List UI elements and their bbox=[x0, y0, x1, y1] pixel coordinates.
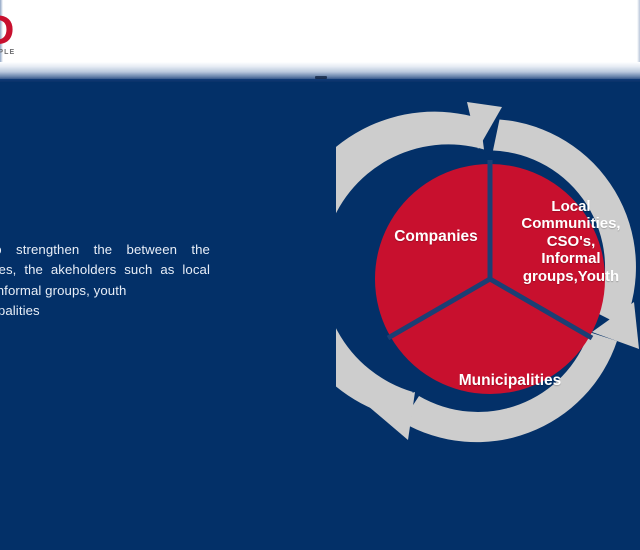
logo-tagline: EOPLE bbox=[0, 49, 15, 56]
stakeholder-line-1: Local bbox=[488, 198, 640, 215]
header-rule bbox=[0, 79, 640, 82]
segment-label-municipalities: Municipalities bbox=[410, 372, 610, 390]
slide-canvas: D EOPLE aims to strengthen the between t… bbox=[0, 0, 640, 550]
body-line-1: aims to strengthen the bbox=[0, 242, 112, 257]
stakeholder-line-3: CSO's, bbox=[488, 233, 640, 250]
body-line-3: akeholders such as local bbox=[51, 262, 210, 277]
body-line-5: e municipalities bbox=[0, 301, 210, 321]
stakeholder-line-2: Communities, bbox=[488, 215, 640, 232]
stakeholder-cycle-diagram: Companies Local Communities, CSO's, Info… bbox=[340, 104, 640, 460]
header-center-marker bbox=[315, 76, 327, 79]
body-paragraph: aims to strengthen the between the compa… bbox=[0, 240, 210, 321]
logo-letter-d: D bbox=[0, 9, 12, 51]
body-line-4: CSO's, informal groups, youth bbox=[0, 283, 126, 298]
organization-logo: D EOPLE bbox=[0, 9, 46, 55]
stakeholder-line-4: Informal bbox=[488, 250, 640, 267]
segment-label-stakeholders: Local Communities, CSO's, Informal group… bbox=[488, 198, 640, 285]
stakeholder-line-5: groups,Youth bbox=[488, 268, 640, 285]
header-band: D EOPLE bbox=[0, 0, 640, 62]
